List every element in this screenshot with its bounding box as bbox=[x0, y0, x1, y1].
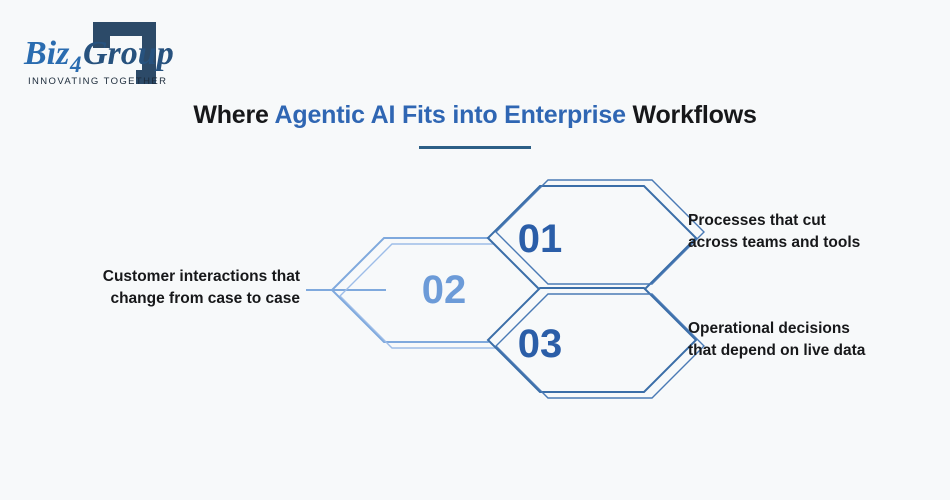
callout-02-line2: change from case to case bbox=[0, 288, 300, 310]
callout-01-line1: Processes that cut bbox=[688, 210, 950, 232]
callout-01: Processes that cut across teams and tool… bbox=[688, 210, 950, 254]
hexagon-number-02: 02 bbox=[422, 268, 467, 312]
callout-03-line1: Operational decisions bbox=[688, 318, 950, 340]
callout-01-line2: across teams and tools bbox=[688, 232, 950, 254]
callout-02: Customer interactions that change from c… bbox=[0, 266, 300, 310]
callout-03: Operational decisions that depend on liv… bbox=[688, 318, 950, 362]
callout-03-line2: that depend on live data bbox=[688, 340, 950, 362]
hexagon-number-03: 03 bbox=[518, 322, 563, 366]
hexagon-number-01: 01 bbox=[518, 217, 563, 261]
callout-02-line1: Customer interactions that bbox=[0, 266, 300, 288]
